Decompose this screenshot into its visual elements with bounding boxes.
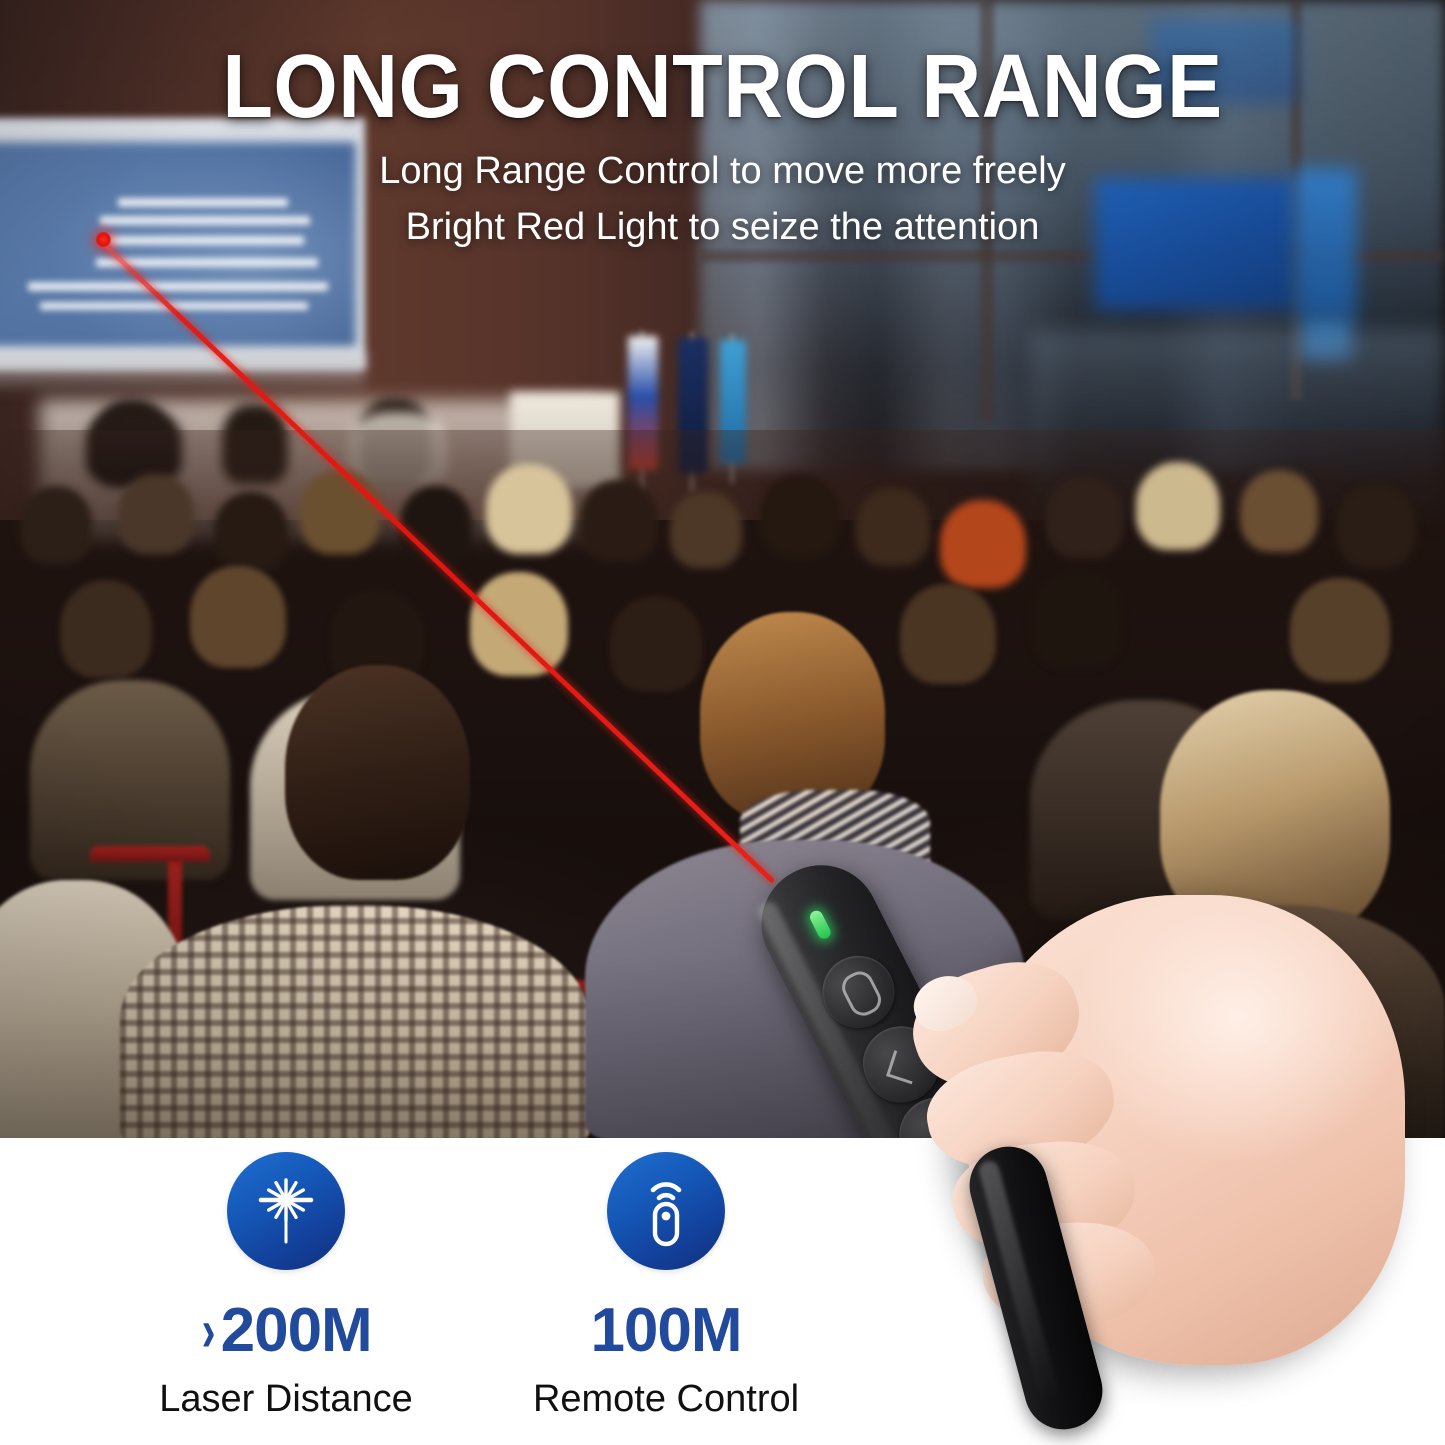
audience-head	[760, 474, 840, 558]
audience-head	[856, 488, 930, 566]
audience-head	[300, 470, 380, 554]
audience-head	[900, 584, 996, 684]
audience-head	[190, 566, 286, 668]
subtitle-line-1: Long Range Control to move more freely	[0, 150, 1445, 193]
laser-burst-badge	[227, 1152, 345, 1270]
audience-head	[670, 492, 742, 568]
audience-head	[60, 580, 152, 678]
audience-head	[1240, 470, 1318, 552]
audience-head	[118, 474, 194, 554]
greater-than-icon: ›	[202, 1301, 215, 1361]
product-marketing-image: LONG CONTROL RANGE Long Range Control to…	[0, 0, 1445, 1445]
laser-burst-icon	[247, 1172, 325, 1250]
caption-laser-distance: Laser Distance	[159, 1378, 412, 1421]
audience-head-red-hair	[940, 500, 1026, 588]
stat-value: 200M	[221, 1300, 372, 1362]
audience-head	[400, 486, 472, 564]
remote-wifi-badge	[607, 1152, 725, 1270]
audience-head	[470, 572, 568, 676]
audience-head	[20, 486, 92, 564]
audience-head	[1290, 578, 1390, 682]
stat-laser-distance: › 200M	[200, 1300, 371, 1362]
laser-oval-icon	[837, 967, 885, 1021]
feature-laser-distance: › 200M Laser Distance	[96, 1152, 476, 1442]
chair-back	[90, 846, 210, 862]
audience-head	[214, 492, 288, 572]
subtitle-line-2: Bright Red Light to seize the attention	[0, 206, 1445, 249]
audience-head	[1046, 476, 1124, 558]
audience-head	[1030, 570, 1124, 670]
stat-remote-control: 100M	[590, 1300, 741, 1362]
projector-screen-shadow	[0, 352, 365, 392]
audience-head	[1336, 484, 1416, 568]
audience-checkered-shirt	[120, 905, 590, 1138]
feature-remote-control: 100M Remote Control	[476, 1152, 856, 1442]
caption-remote-control: Remote Control	[533, 1378, 799, 1421]
page-title: LONG CONTROL RANGE	[58, 36, 1387, 139]
audience-head	[610, 596, 702, 692]
audience-head	[580, 480, 658, 562]
slide-text-line	[28, 282, 328, 291]
audience-head	[1136, 462, 1220, 550]
audience-head	[486, 464, 572, 554]
hand-holding-presenter	[905, 905, 1445, 1445]
feature-list: › 200M Laser Distance	[96, 1152, 856, 1442]
remote-wifi-icon	[627, 1172, 705, 1250]
audience-foreground-head	[285, 665, 470, 880]
stat-value: 100M	[590, 1300, 741, 1362]
